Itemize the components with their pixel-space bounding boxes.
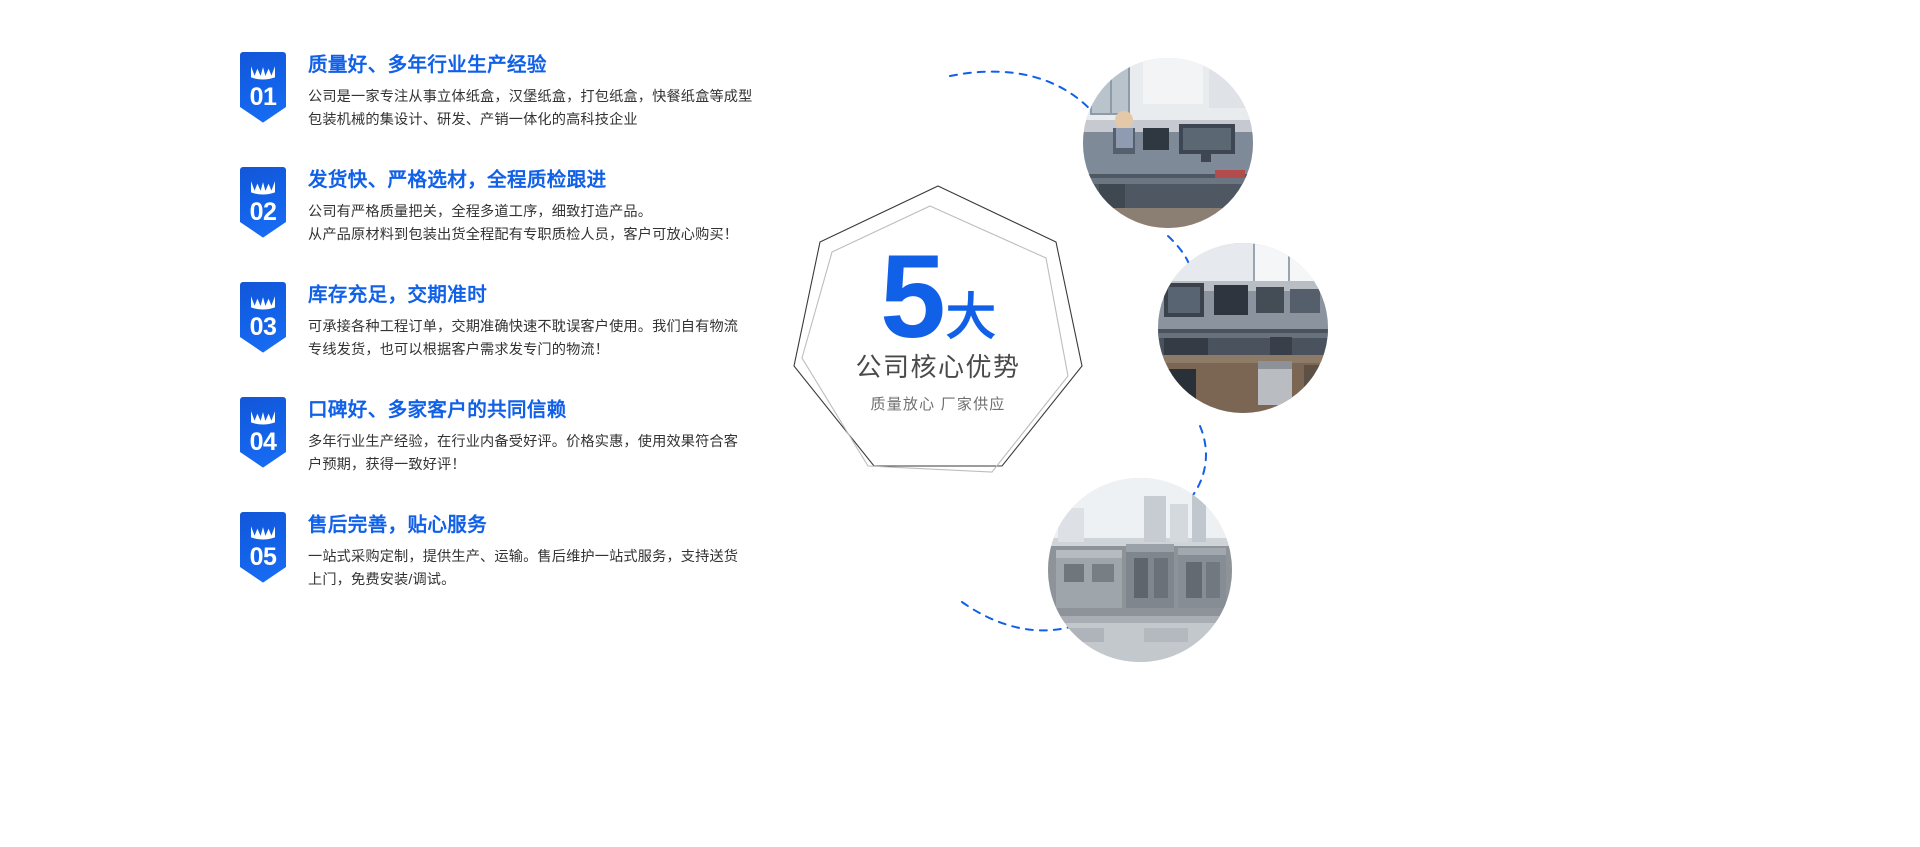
promo-banner: 01 质量好、多年行业生产经验 公司是一家专注从事立体纸盒，汉堡纸盒，打包纸盒，… (0, 0, 1920, 847)
advantage-description-line: 包装机械的集设计、研发、产销一体化的高科技企业 (308, 109, 770, 132)
advantage-badge: 01 (240, 52, 286, 126)
advantage-number: 05 (250, 543, 277, 571)
advantage-description-line: 多年行业生产经验，在行业内备受好评。价格实惠，使用效果符合客 (308, 431, 770, 454)
advantage-description: 公司有严格质量把关，全程多道工序，细致打造产品。 从产品原材料到包装出货全程配有… (308, 201, 770, 246)
office-interior-photo (1158, 243, 1328, 413)
crown-icon (250, 294, 276, 310)
crown-icon (250, 179, 276, 195)
advantage-number: 02 (250, 198, 277, 226)
advantage-description-line: 户预期，获得一致好评！ (308, 454, 770, 477)
advantage-badge: 04 (240, 397, 286, 471)
list-item: 03 库存充足，交期准时 可承接各种工程订单，交期准确快速不耽误客户使用。我们自… (240, 282, 770, 361)
advantage-number: 04 (250, 428, 277, 456)
advantage-description: 公司是一家专注从事立体纸盒，汉堡纸盒，打包纸盒，快餐纸盒等成型 包装机械的集设计… (308, 86, 770, 131)
office-workstation-photo (1083, 58, 1253, 228)
advantage-text: 口碑好、多家客户的共同信赖 多年行业生产经验，在行业内备受好评。价格实惠，使用效… (308, 397, 770, 476)
advantage-number: 03 (250, 313, 277, 341)
advantage-text: 售后完善，贴心服务 一站式采购定制，提供生产、运输。售后维护一站式服务，支持送货… (308, 512, 770, 591)
advantage-description-line: 可承接各种工程订单，交期准确快速不耽误客户使用。我们自有物流 (308, 316, 770, 339)
advantage-badge: 05 (240, 512, 286, 586)
advantage-description-line: 公司是一家专注从事立体纸盒，汉堡纸盒，打包纸盒，快餐纸盒等成型 (308, 86, 770, 109)
advantage-title: 售后完善，贴心服务 (308, 513, 770, 537)
crown-icon (250, 409, 276, 425)
advantage-title: 发货快、严格选材，全程质检跟进 (308, 168, 770, 192)
advantage-text: 质量好、多年行业生产经验 公司是一家专注从事立体纸盒，汉堡纸盒，打包纸盒，快餐纸… (308, 52, 770, 131)
list-item: 04 口碑好、多家客户的共同信赖 多年行业生产经验，在行业内备受好评。价格实惠，… (240, 397, 770, 476)
list-item: 01 质量好、多年行业生产经验 公司是一家专注从事立体纸盒，汉堡纸盒，打包纸盒，… (240, 52, 770, 131)
advantage-description-line: 专线发货，也可以根据客户需求发专门的物流！ (308, 339, 770, 362)
advantage-text: 发货快、严格选材，全程质检跟进 公司有严格质量把关，全程多道工序，细致打造产品。… (308, 167, 770, 246)
advantage-description-line: 一站式采购定制，提供生产、运输。售后维护一站式服务，支持送货 (308, 546, 770, 569)
advantage-badge: 02 (240, 167, 286, 241)
advantage-number: 01 (250, 83, 277, 111)
advantage-description: 多年行业生产经验，在行业内备受好评。价格实惠，使用效果符合客 户预期，获得一致好… (308, 431, 770, 476)
crown-icon (250, 524, 276, 540)
advantage-title: 口碑好、多家客户的共同信赖 (308, 398, 770, 422)
advantage-description: 一站式采购定制，提供生产、运输。售后维护一站式服务，支持送货 上门，免费安装/调… (308, 546, 770, 591)
advantage-description-line: 上门，免费安装/调试。 (308, 569, 770, 592)
advantage-description-line: 公司有严格质量把关，全程多道工序，细致打造产品。 (308, 201, 770, 224)
production-machinery-photo (1048, 478, 1232, 662)
advantage-list: 01 质量好、多年行业生产经验 公司是一家专注从事立体纸盒，汉堡纸盒，打包纸盒，… (240, 52, 770, 627)
list-item: 02 发货快、严格选材，全程质检跟进 公司有严格质量把关，全程多道工序，细致打造… (240, 167, 770, 246)
advantage-title: 质量好、多年行业生产经验 (308, 53, 770, 77)
advantage-text: 库存充足，交期准时 可承接各种工程订单，交期准确快速不耽误客户使用。我们自有物流… (308, 282, 770, 361)
list-item: 05 售后完善，贴心服务 一站式采购定制，提供生产、运输。售后维护一站式服务，支… (240, 512, 770, 591)
crown-icon (250, 64, 276, 80)
advantage-badge: 03 (240, 282, 286, 356)
advantage-description: 可承接各种工程订单，交期准确快速不耽误客户使用。我们自有物流 专线发货，也可以根… (308, 316, 770, 361)
advantage-title: 库存充足，交期准时 (308, 283, 770, 307)
advantage-description-line: 从产品原材料到包装出货全程配有专职质检人员，客户可放心购买！ (308, 224, 770, 247)
